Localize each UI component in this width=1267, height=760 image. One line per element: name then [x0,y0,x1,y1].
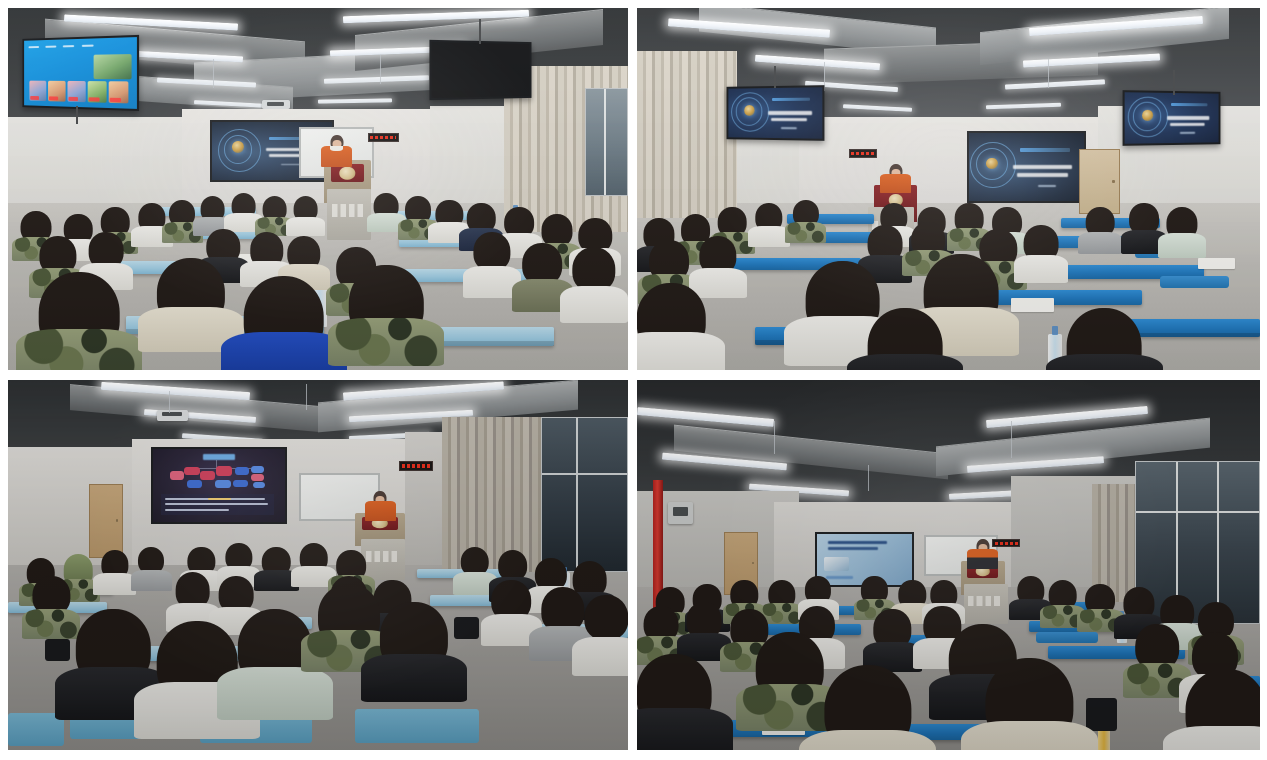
person-head [541,214,572,247]
slide-text-highlight [208,498,231,500]
led-message-sign [368,133,399,142]
ceiling-projector [157,410,188,421]
audience-member-foreground [1185,669,1260,750]
person-torso [572,637,628,676]
person-torso [217,667,333,720]
audience-member [768,580,795,624]
slide-emblem-core [1142,110,1153,121]
person-torso [328,318,444,367]
light-hanger [213,59,214,88]
student-seat [1036,632,1098,643]
paper-handout [1198,258,1235,269]
person-torso [22,609,80,639]
window-curtains [637,51,737,218]
audience-member-foreground [39,272,120,370]
classroom-scene-2 [637,8,1260,370]
audience-member [492,580,532,647]
audience-member [293,196,318,236]
audience-member [262,547,291,591]
audience-member-foreground [755,632,824,732]
audience-member [1048,580,1077,628]
tv-mount-bracket [774,66,776,88]
tv-mount-bracket [479,19,481,44]
person-torso [637,332,725,370]
person-torso [1163,726,1260,750]
window-mullion [1217,462,1219,623]
audience-member-foreground [637,654,712,750]
slide-title-line [1167,116,1209,120]
slide-emblem-core [745,105,755,115]
audience-member [572,247,615,323]
audience-member-foreground [868,308,943,370]
diagram-node [233,480,248,487]
slide-text-line [165,509,229,511]
presenter [967,539,998,569]
window-wall [585,88,628,197]
audience-member-foreground [380,602,448,702]
led-text [851,152,874,155]
student-seat [355,709,479,742]
light-hanger [380,55,381,84]
diagram-node [200,471,215,479]
light-hanger [868,465,869,491]
person-torso [16,329,142,370]
nav-item-icon[interactable] [82,45,94,47]
audience-member [231,193,256,233]
diagram-node [215,480,231,487]
slide-subtitle-line [281,164,300,166]
presenter-body [321,146,352,168]
audience-member [1167,207,1198,258]
slide-emblem-core [232,141,244,153]
slide-title-line [1017,173,1067,177]
nav-item-icon[interactable] [28,46,38,48]
wall-tv-off[interactable] [429,39,531,99]
diagram-node [216,466,232,476]
classroom-scene-4 [637,380,1260,750]
slide-accent-bar [1020,148,1070,152]
audience-member [101,550,128,594]
av-control-console [361,539,404,580]
av-control-console [964,584,1008,625]
presenter [880,164,911,193]
person-head [585,595,628,641]
window-wall [541,417,628,572]
person-torso [847,354,964,370]
audience-member-foreground [349,265,423,366]
slide-text-block [161,494,275,515]
audience-member [299,543,328,587]
backpack [45,639,70,661]
audience-member [874,609,911,672]
window-mullion [1136,511,1259,513]
light-hanger [1048,59,1049,88]
window-wall [1135,461,1260,624]
audience-member [374,193,399,233]
audience-member [793,200,819,243]
projection-screen [151,447,287,525]
slide-title-line [203,454,235,459]
slide-title-line [768,111,812,115]
collage-photo-bottom-right[interactable]: Dark classroom with red standpipe at lef… [637,380,1260,750]
slide-subtitle-line [782,127,797,129]
presenter-body [967,549,998,569]
audience-member-foreground [637,283,706,370]
collage-photo-top-left[interactable]: Bright lecture classroom, students seate… [8,8,628,370]
diagram-node [170,471,185,479]
diagram-node [251,474,264,481]
audience-member [687,602,722,661]
student-seat [1160,276,1229,288]
audience-member [523,243,563,312]
audience-member-foreground [244,276,325,370]
app-navigation-bar[interactable] [28,41,132,50]
tv-mount-bracket [1173,70,1175,95]
presenter-body [365,501,396,521]
person-torso [1014,255,1068,283]
led-text [370,136,396,140]
audience-member-foreground [1067,308,1142,370]
wall-tv-streaming-app[interactable] [23,35,140,112]
app-thumbnail[interactable] [48,81,65,101]
wall-equipment-box [668,502,693,524]
led-message-sign [399,461,433,471]
slide-accent-bar [1171,103,1208,106]
person-torso [361,654,467,702]
person-torso [748,226,791,247]
classroom-door[interactable] [89,484,123,558]
nav-item-icon[interactable] [63,45,74,47]
wall-tv-right[interactable] [1122,90,1220,146]
slide-accent-bar [772,98,810,101]
audience-member [1135,624,1179,698]
audience-member-foreground [157,258,225,352]
slide-inset-image [824,557,849,570]
slide-subtitle-line [1180,132,1195,134]
person-torso [961,721,1097,750]
light-hanger [1011,421,1012,458]
window-mullion [542,473,627,475]
diagram-node [253,482,265,489]
paper-handout [1011,298,1055,312]
tv-mount-bracket [76,106,78,124]
presenter [365,491,396,521]
audience-member [755,203,782,246]
light-hanger [306,384,307,410]
app-thumbnail[interactable] [68,81,86,102]
wall-tv-left[interactable] [727,85,825,141]
app-thumbnail[interactable] [88,81,107,102]
audience-member [33,576,70,639]
person-torso [131,570,172,591]
audience-member [262,196,287,236]
presenter-body [880,174,911,193]
app-hero-thumbnail[interactable] [94,54,132,78]
person-torso [785,222,826,243]
audience-member-foreground [986,658,1073,751]
slide-heading-line [828,541,887,545]
classroom-door[interactable] [1079,149,1119,214]
classroom-scene-3 [8,380,628,750]
audience-member [1086,207,1115,254]
slide-title-line [1170,123,1205,126]
person-torso [637,708,733,750]
diagram-node [187,480,202,487]
ceiling-projector [262,100,290,109]
collage-photo-bottom-left[interactable]: Dimly lit classroom, students facing a s… [8,380,628,750]
app-thumbnail[interactable] [109,82,128,104]
person-torso [1046,354,1163,370]
slide-heading-line [828,547,878,550]
led-message-sign [849,149,877,158]
nav-item-icon[interactable] [46,46,57,48]
slide-text-line [165,503,267,505]
av-control-console [327,189,370,240]
slide-emblem-core [986,158,997,169]
audience-member [1129,203,1159,254]
audience-member [473,232,510,297]
window-mullion [604,89,606,196]
slide-title-line [771,118,807,121]
person-torso [560,286,628,323]
window-mullion [576,418,578,571]
app-thumbnail[interactable] [30,81,47,101]
student-desk [980,290,1142,304]
diagram-node [251,466,264,473]
person-torso [1158,233,1207,257]
slide-subtitle-line [1038,185,1056,187]
audience-member [405,196,431,239]
audience-member [461,547,490,595]
slide-title-line [1013,165,1072,169]
audience-member [1086,584,1116,632]
audience-member-foreground [824,665,911,750]
presenter [321,135,352,168]
person-torso [1078,232,1123,255]
diagram-node [235,467,250,475]
light-hanger [169,391,170,413]
person-torso [93,573,136,594]
backpack [1086,698,1117,731]
audience-member [585,595,628,676]
led-text [402,464,430,468]
collage-photo-top-right[interactable]: Lecture room with twin wall-mounted TVs … [637,8,1260,370]
audience-member [138,547,164,591]
person-torso [799,730,935,750]
projection-screen [967,131,1085,203]
audience-member [169,200,195,243]
backpack [454,617,479,639]
diagram-node [184,467,200,475]
photo-collage: Bright lecture classroom, students seate… [0,0,1267,760]
person-torso [286,217,325,236]
audience-member [1023,225,1058,283]
classroom-scene-1 [8,8,628,370]
light-hanger [774,421,775,454]
